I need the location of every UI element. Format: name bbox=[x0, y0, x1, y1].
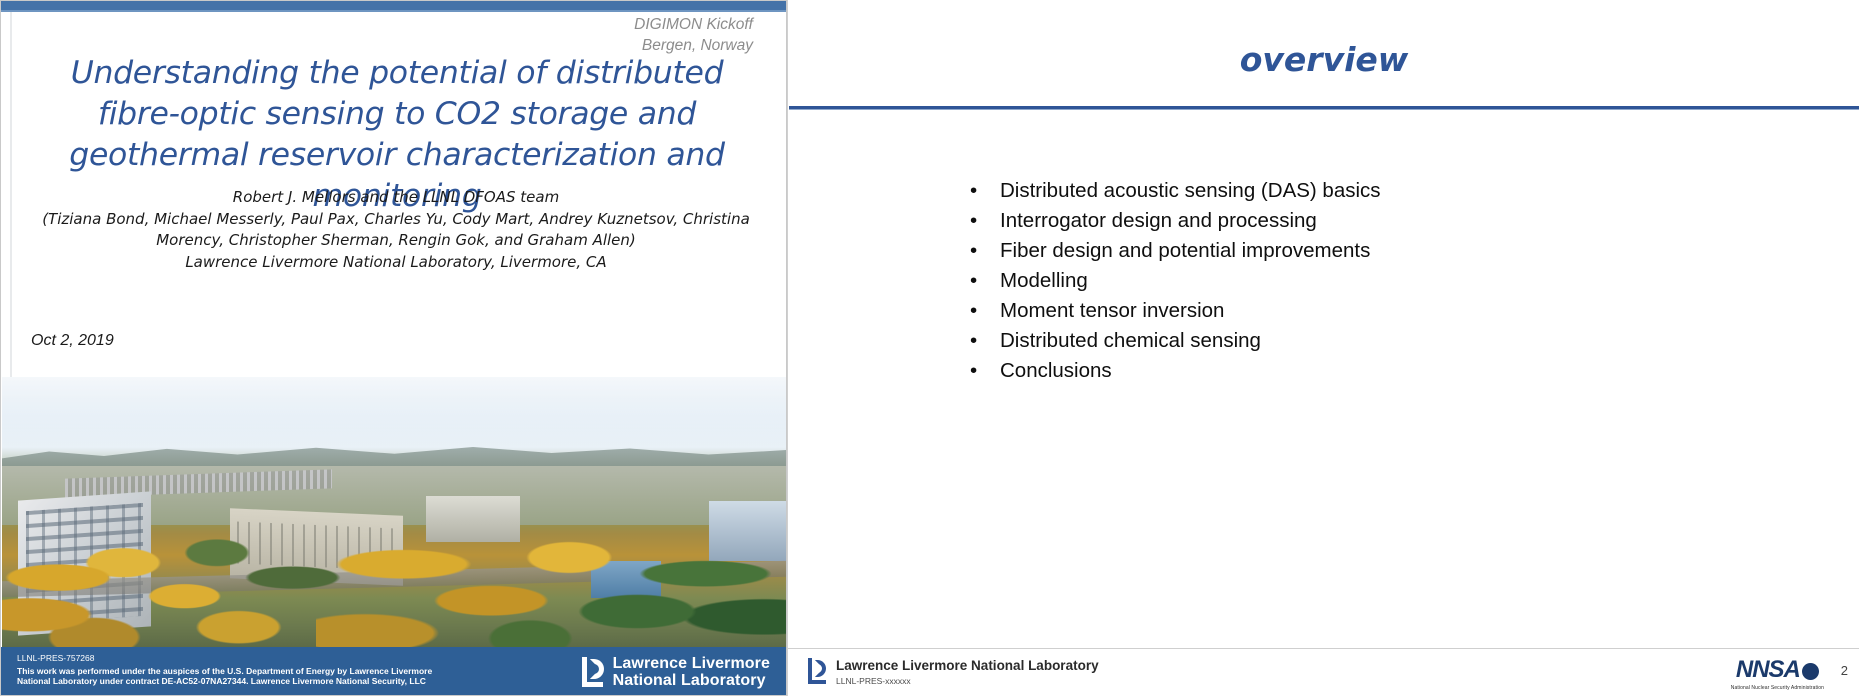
nnsa-wordmark: NNSA bbox=[1736, 656, 1819, 684]
llnl-wordmark: Lawrence Livermore National Laboratory bbox=[613, 655, 770, 689]
list-item-label: Fiber design and potential improvements bbox=[1000, 239, 1370, 262]
llnl-logo-icon bbox=[806, 658, 828, 684]
overview-bullet-list: • Distributed acoustic sensing (DAS) bas… bbox=[966, 176, 1786, 386]
footer-pres-code: LLNL-PRES-757268 bbox=[17, 653, 457, 664]
nnsa-seal-icon bbox=[1802, 663, 1819, 680]
author-line-2: (Tiziana Bond, Michael Messerly, Paul Pa… bbox=[41, 209, 751, 231]
bullet-icon: • bbox=[970, 326, 977, 356]
list-item[interactable]: • Distributed acoustic sensing (DAS) bas… bbox=[966, 176, 1786, 206]
llnl-wordmark-line1: Lawrence Livermore bbox=[613, 655, 770, 672]
title-slide-footer: LLNL-PRES-757268 This work was performed… bbox=[1, 647, 787, 695]
list-item-label: Moment tensor inversion bbox=[1000, 299, 1224, 322]
nnsa-wordmark-label: NNSA bbox=[1736, 656, 1800, 684]
overview-slide[interactable]: overview • Distributed acoustic sensing … bbox=[787, 0, 1859, 696]
conference-event: DIGIMON Kickoff bbox=[634, 14, 753, 35]
bullet-icon: • bbox=[970, 266, 977, 296]
list-item[interactable]: • Interrogator design and processing bbox=[966, 206, 1786, 236]
slide-top-accent-bar bbox=[1, 1, 787, 10]
list-item[interactable]: • Moment tensor inversion bbox=[966, 296, 1786, 326]
page-number: 2 bbox=[1841, 663, 1848, 678]
conference-meta: DIGIMON Kickoff Bergen, Norway bbox=[634, 14, 753, 56]
llnl-logo-icon bbox=[579, 657, 605, 687]
slide-deck: DIGIMON Kickoff Bergen, Norway Understan… bbox=[0, 0, 1859, 696]
llnl-footer-pres-code: LLNL-PRES-xxxxxx bbox=[836, 676, 1099, 686]
photo-tree-canopy-left bbox=[2, 528, 347, 647]
campus-aerial-photo bbox=[2, 377, 787, 647]
overview-slide-footer: Lawrence Livermore National Laboratory L… bbox=[788, 648, 1859, 696]
footer-disclaimer-block: LLNL-PRES-757268 This work was performed… bbox=[17, 653, 457, 687]
presentation-date: Oct 2, 2019 bbox=[31, 332, 114, 350]
nnsa-logo: NNSA National Nuclear Security Administr… bbox=[1731, 656, 1824, 691]
author-line-3: Morency, Christopher Sherman, Rengin Gok… bbox=[41, 230, 751, 252]
llnl-footer-text: Lawrence Livermore National Laboratory L… bbox=[836, 658, 1099, 686]
list-item-label: Distributed chemical sensing bbox=[1000, 329, 1261, 352]
llnl-footer-org: Lawrence Livermore National Laboratory bbox=[836, 658, 1099, 673]
list-item[interactable]: • Distributed chemical sensing bbox=[966, 326, 1786, 356]
bullet-icon: • bbox=[970, 356, 977, 386]
bullet-icon: • bbox=[970, 206, 977, 236]
author-block: Robert J. Mellors and the LLNL DFOAS tea… bbox=[41, 187, 751, 273]
llnl-logo: Lawrence Livermore National Laboratory L… bbox=[806, 658, 1099, 686]
list-item-label: Modelling bbox=[1000, 269, 1088, 292]
list-item[interactable]: • Modelling bbox=[966, 266, 1786, 296]
list-item-label: Interrogator design and processing bbox=[1000, 209, 1317, 232]
author-line-1: Robert J. Mellors and the LLNL DFOAS tea… bbox=[41, 187, 751, 209]
bullet-icon: • bbox=[970, 176, 977, 206]
author-affiliation: Lawrence Livermore National Laboratory, … bbox=[41, 252, 751, 274]
title-slide[interactable]: DIGIMON Kickoff Bergen, Norway Understan… bbox=[0, 0, 787, 696]
list-item-label: Distributed acoustic sensing (DAS) basic… bbox=[1000, 179, 1381, 202]
llnl-wordmark-line2: National Laboratory bbox=[613, 672, 766, 689]
overview-title-rule-light bbox=[789, 109, 1859, 110]
nnsa-subtitle: National Nuclear Security Administration bbox=[1731, 685, 1824, 691]
photo-tree-canopy-right bbox=[316, 517, 787, 647]
llnl-logo: Lawrence Livermore National Laboratory bbox=[579, 655, 770, 689]
footer-disclaimer-text: This work was performed under the auspic… bbox=[17, 666, 457, 687]
list-item-label: Conclusions bbox=[1000, 359, 1112, 382]
list-item[interactable]: • Fiber design and potential improvement… bbox=[966, 236, 1786, 266]
overview-title: overview bbox=[788, 40, 1859, 79]
bullet-icon: • bbox=[970, 296, 977, 326]
list-item[interactable]: • Conclusions bbox=[966, 356, 1786, 386]
bullet-icon: • bbox=[970, 236, 977, 266]
slide-top-accent-bar-light bbox=[1, 10, 787, 12]
